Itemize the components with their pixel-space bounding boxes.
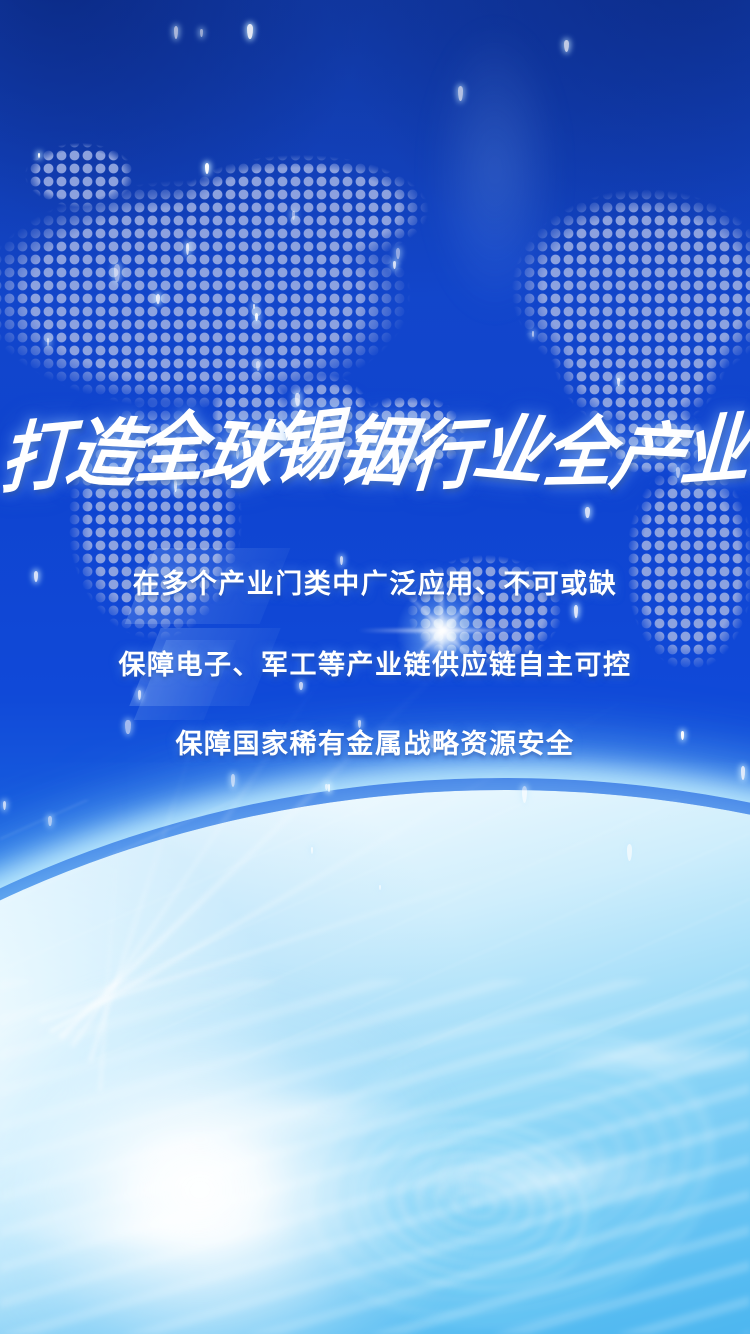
content-layer: 打造全球锡铟行业全产业链链主 在多个产业门类中广泛应用、不可或缺 保障电子、军工… bbox=[0, 0, 750, 1334]
title-char: 业 bbox=[468, 412, 552, 493]
subtitle-line-1: 在多个产业门类中广泛应用、不可或缺 bbox=[0, 562, 750, 601]
poster-root: 打造全球锡铟行业全产业链链主 在多个产业门类中广泛应用、不可或缺 保障电子、军工… bbox=[0, 0, 750, 1334]
title-char: 全 bbox=[540, 417, 617, 494]
title-char: 全 bbox=[132, 412, 207, 490]
title-char: 球 bbox=[197, 417, 280, 497]
title-char: 锡 bbox=[271, 408, 341, 492]
title-char: 业 bbox=[678, 412, 750, 493]
title-char: 产 bbox=[605, 420, 686, 499]
title-char: 铟 bbox=[334, 415, 414, 493]
subtitle-line-2: 保障电子、军工等产业链供应链自主可控 bbox=[0, 643, 750, 682]
page-title: 打造全球锡铟行业全产业链链主 bbox=[0, 415, 750, 491]
title-char: 造 bbox=[61, 416, 142, 495]
subtitle-line-3: 保障国家稀有金属战略资源安全 bbox=[0, 722, 750, 761]
title-char: 打 bbox=[0, 418, 70, 501]
